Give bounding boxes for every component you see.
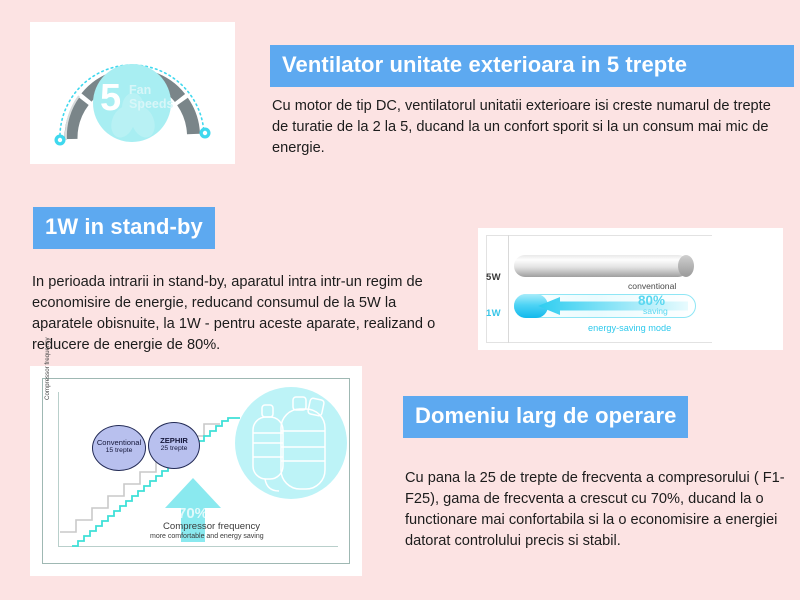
- fan-speed-illustration-panel: 5 Fan Speeds: [30, 22, 235, 164]
- fan-gauge-graphic: 5 Fan Speeds: [30, 22, 235, 164]
- bubble-zephir: ZEPHIR 25 trepte: [148, 422, 200, 469]
- label-conventional: conventional: [628, 281, 676, 291]
- fan-speed-label-line2: Speeds: [129, 98, 173, 112]
- conventional-bar-cap: [678, 255, 694, 277]
- fan-speed-label: Fan Speeds: [129, 84, 173, 111]
- power-consumption-diagram-panel: 5W conventional 1W 80% saving energy-sav…: [478, 228, 783, 350]
- label-energy-saving-mode: energy-saving mode: [588, 323, 671, 333]
- paragraph-domeniu: Cu pana la 25 de trepte de frecventa a c…: [405, 468, 795, 552]
- fan-speed-number: 5: [100, 79, 121, 117]
- bubble-conventional-line1: Conventional: [93, 438, 145, 447]
- bubble-zephir-line2: 25 trepte: [149, 445, 199, 454]
- paragraph-ventilator: Cu motor de tip DC, ventilatorul unitati…: [272, 96, 780, 159]
- label-1w: 1W: [486, 308, 501, 319]
- bubble-conventional-line2: 15 trepte: [93, 447, 145, 456]
- fan-speed-label-line1: Fan: [129, 84, 173, 98]
- chart-caption-subtitle: more comfortable and energy saving: [150, 533, 264, 540]
- bubble-zephir-line1: ZEPHIR: [149, 436, 199, 445]
- conventional-bar: [514, 255, 689, 277]
- heading-domeniu: Domeniu larg de operare: [403, 396, 688, 438]
- label-5w: 5W: [486, 272, 501, 283]
- paragraph-standby: In perioada intrarii in stand-by, aparat…: [32, 272, 452, 356]
- chart-annotation-70: 70%: [178, 505, 208, 522]
- power-diagram-axis: [508, 235, 509, 343]
- bubble-conventional: Conventional 15 trepte: [92, 425, 146, 471]
- heading-ventilator: Ventilator unitate exterioara in 5 trept…: [270, 45, 794, 87]
- chart-y-axis-label: Compressor frequency: [44, 300, 51, 400]
- chart-caption-title: Compressor frequency: [163, 521, 260, 532]
- infographic-page: 5 Fan Speeds Ventilator unitate exterioa…: [0, 0, 800, 600]
- heading-standby: 1W in stand-by: [33, 207, 215, 249]
- label-saving-word: saving: [643, 306, 668, 316]
